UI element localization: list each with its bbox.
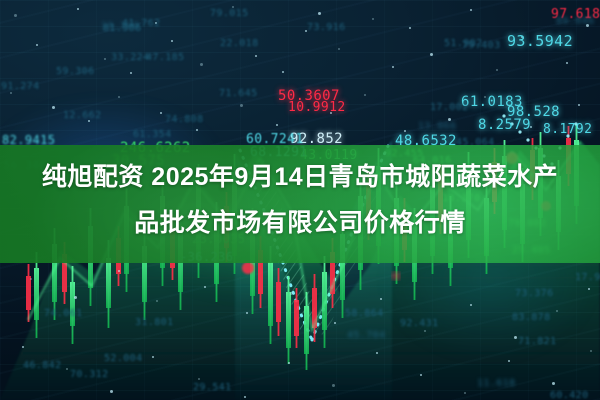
ticker-number: 71.645 <box>219 88 258 99</box>
ticker-number: 93.5942 <box>507 32 573 50</box>
ticker-number: 13.066 <box>418 121 457 132</box>
ticker-number: 89.046 <box>556 16 595 27</box>
ticker-number: 73.376 <box>515 288 554 299</box>
page-title: 纯旭配资 2025年9月14日青岛市城阳蔬菜水产 品批发市场有限公司价格行情 <box>0 154 600 246</box>
ticker-number: 11.618 <box>477 378 516 389</box>
ticker-number: 58.864 <box>345 308 384 319</box>
title-banner: 纯旭配资 2025年9月14日青岛市城阳蔬菜水产 品批发市场有限公司价格行情 <box>0 145 600 263</box>
ticker-number: 31.801 <box>135 317 174 328</box>
ticker-number: 60.420 <box>550 390 589 400</box>
ticker-number: 59.306 <box>56 66 95 77</box>
ticker-number: 52.004 <box>104 353 143 364</box>
ticker-number: 12.662 <box>63 110 102 121</box>
ticker-number: 19.398 <box>101 21 140 32</box>
ticker-number: 47.185 <box>146 52 185 63</box>
ticker-number: 17.002 <box>430 102 469 113</box>
ticker-number: 79.403 <box>462 40 501 51</box>
ticker-number: 61.354 <box>133 129 172 140</box>
ticker-number: 17.907 <box>575 272 600 283</box>
ticker-number: 74.808 <box>165 114 204 125</box>
ticker-number: 79.015 <box>210 8 249 19</box>
ticker-number: 70.312 <box>70 369 109 380</box>
ticker-number: 10.9912 <box>288 100 346 115</box>
title-line-1: 纯旭配资 2025年9月14日青岛市城阳蔬菜水产 <box>0 154 600 200</box>
ticker-number: 8.1792 <box>543 122 592 137</box>
ticker-number: 45.704 <box>347 330 386 341</box>
ticker-number: 92.431 <box>400 318 439 329</box>
ticker-number: 22.018 <box>220 38 259 49</box>
ticker-number: 29.541 <box>193 382 232 393</box>
ticker-number: 46.842 <box>23 360 62 371</box>
ticker-number: 71.821 <box>518 336 557 347</box>
ticker-number: 83.878 <box>512 312 551 323</box>
ticker-number: 91.274 <box>1 81 40 92</box>
banner-image: 93.594261.018398.5288.25798.179250.36071… <box>0 0 600 400</box>
ticker-number: 33.224 <box>111 52 150 63</box>
ticker-number: 8.2579 <box>478 117 531 133</box>
ticker-number: 73.916 <box>307 22 346 33</box>
title-line-2: 品批发市场有限公司价格行情 <box>0 200 600 246</box>
ticker-number: 74.061 <box>44 308 83 319</box>
